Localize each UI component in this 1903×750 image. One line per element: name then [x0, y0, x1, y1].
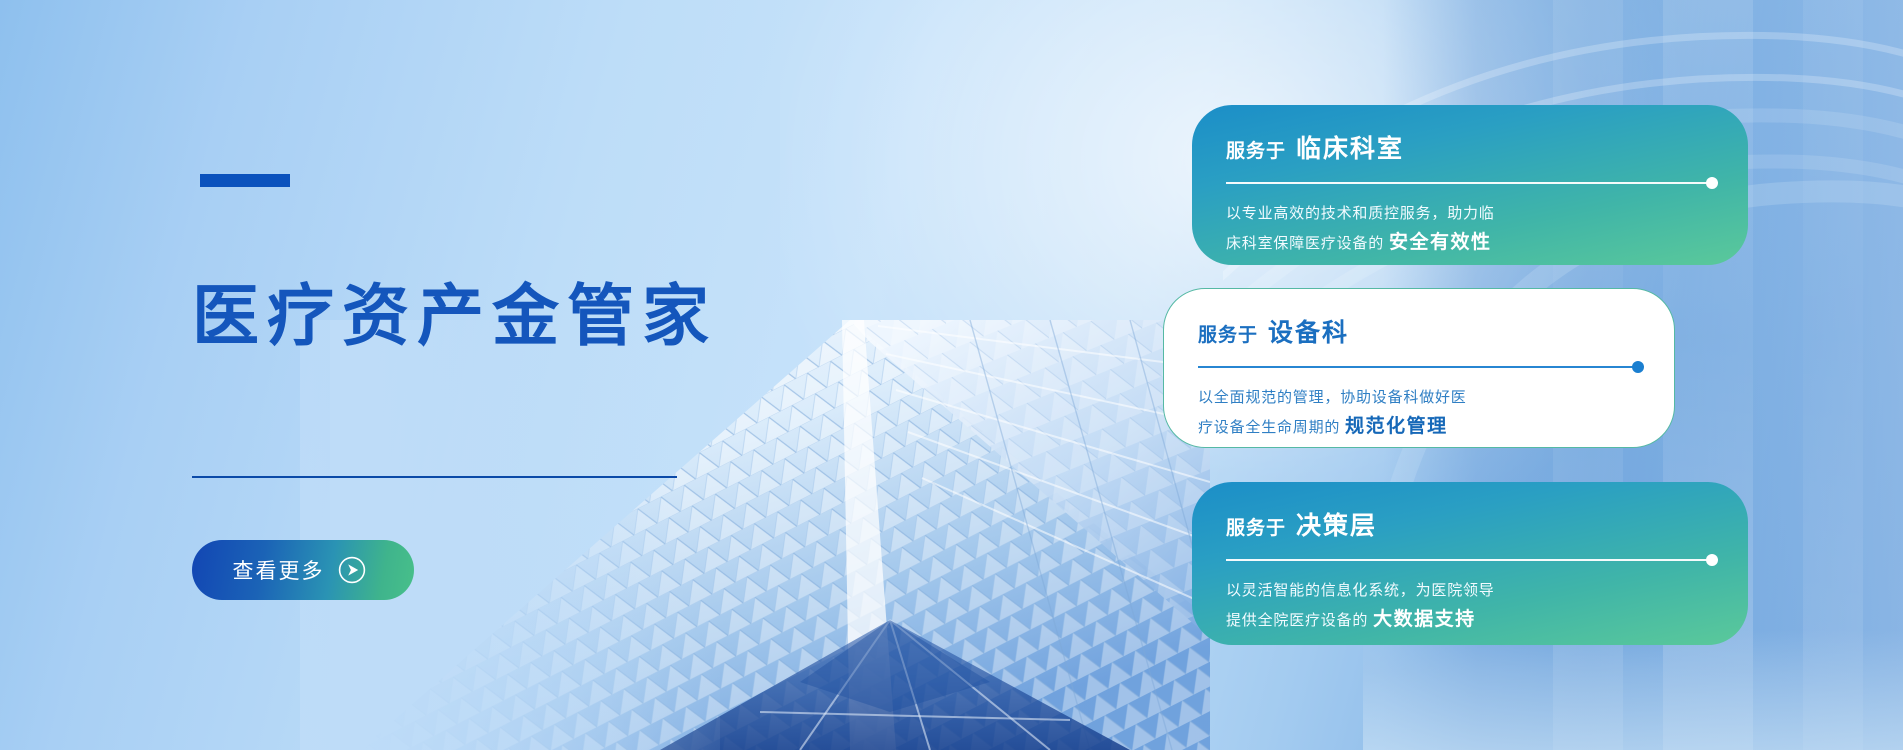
card-prefix: 服务于: [1226, 136, 1286, 163]
card-rule: [1198, 361, 1640, 373]
card-heading: 服务于 决策层: [1226, 506, 1714, 542]
card-rule-line: [1198, 366, 1640, 368]
view-more-button[interactable]: 查看更多: [192, 540, 414, 600]
card-prefix: 服务于: [1226, 513, 1286, 540]
card-rule-dot: [1706, 177, 1718, 189]
card-prefix: 服务于: [1198, 320, 1258, 347]
card-description: 以灵活智能的信息化系统，为医院领导 提供全院医疗设备的 大数据支持: [1226, 578, 1556, 636]
card-desc-line1: 以灵活智能的信息化系统，为医院领导: [1226, 582, 1495, 599]
card-desc-emphasis: 规范化管理: [1345, 416, 1448, 437]
card-rule: [1226, 177, 1714, 189]
card-description: 以专业高效的技术和质控服务，助力临 床科室保障医疗设备的 安全有效性: [1226, 201, 1556, 259]
service-card-clinical[interactable]: 服务于 临床科室 以专业高效的技术和质控服务，助力临 床科室保障医疗设备的 安全…: [1192, 105, 1748, 265]
card-rule: [1226, 554, 1714, 566]
card-heading: 服务于 设备科: [1198, 313, 1640, 349]
service-card-decision[interactable]: 服务于 决策层 以灵活智能的信息化系统，为医院领导 提供全院医疗设备的 大数据支…: [1192, 482, 1748, 645]
card-desc-line1: 以专业高效的技术和质控服务，助力临: [1226, 205, 1495, 222]
card-desc-emphasis: 大数据支持: [1373, 609, 1476, 630]
accent-dash: [200, 174, 290, 187]
card-rule-line: [1226, 182, 1714, 184]
view-more-label: 查看更多: [233, 555, 325, 585]
card-description: 以全面规范的管理，协助设备科做好医 疗设备全生命周期的 规范化管理: [1198, 385, 1528, 443]
circle-arrow-right-icon: [338, 556, 366, 584]
hero-content: 医疗资产金管家 查看更多: [192, 0, 892, 750]
card-desc-line2-prefix: 床科室保障医疗设备的: [1226, 235, 1384, 252]
card-target: 决策层: [1296, 506, 1377, 542]
card-rule-dot: [1706, 554, 1718, 566]
background-wall-stripe: [1803, 0, 1863, 750]
service-card-equipment[interactable]: 服务于 设备科 以全面规范的管理，协助设备科做好医 疗设备全生命周期的 规范化管…: [1163, 288, 1675, 448]
service-cards: 服务于 临床科室 以专业高效的技术和质控服务，助力临 床科室保障医疗设备的 安全…: [1163, 0, 1763, 750]
card-desc-line1: 以全面规范的管理，协助设备科做好医: [1198, 389, 1467, 406]
content-divider: [192, 476, 677, 478]
card-desc-line2-prefix: 疗设备全生命周期的: [1198, 419, 1340, 436]
card-heading: 服务于 临床科室: [1226, 129, 1714, 165]
card-desc-line2-prefix: 提供全院医疗设备的: [1226, 612, 1368, 629]
card-rule-dot: [1632, 361, 1644, 373]
card-rule-line: [1226, 559, 1714, 561]
hero-banner: 医疗资产金管家 查看更多 服务于 临床科室 以专: [0, 0, 1903, 750]
card-target: 临床科室: [1296, 129, 1404, 165]
card-desc-emphasis: 安全有效性: [1389, 232, 1492, 253]
page-title: 医疗资产金管家: [192, 283, 717, 350]
card-target: 设备科: [1268, 313, 1349, 349]
